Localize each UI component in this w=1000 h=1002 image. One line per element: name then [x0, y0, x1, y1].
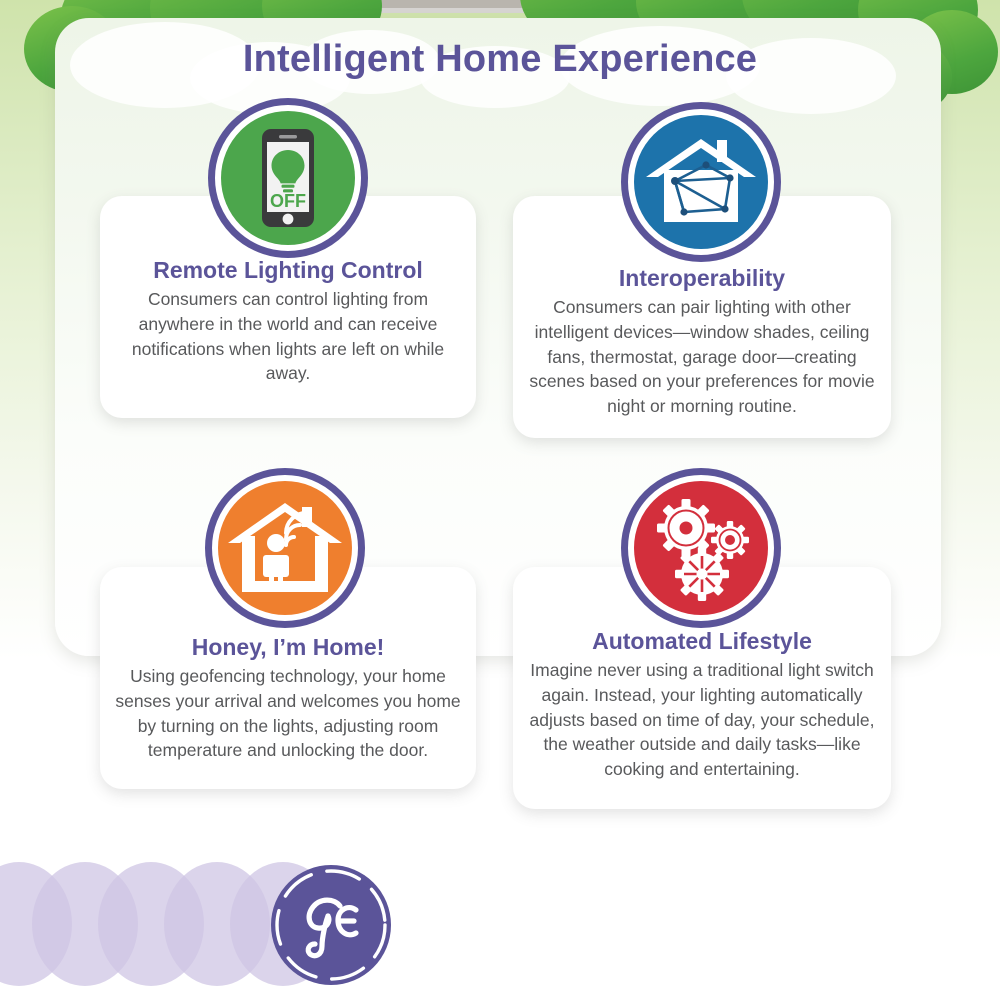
phone-off-icon: OFF	[208, 98, 368, 258]
geofence-person-house-icon	[205, 468, 365, 628]
ge-monogram-logo	[268, 862, 394, 988]
gears-glyph	[634, 481, 768, 615]
card-body: Imagine never using a traditional light …	[513, 658, 891, 781]
phone-off-label: OFF	[270, 191, 306, 211]
phone-off-glyph: OFF	[221, 111, 355, 245]
smart-home-network-glyph	[634, 115, 768, 249]
gears-icon	[621, 468, 781, 628]
card-body: Using geofencing technology, your home s…	[100, 664, 476, 763]
card-title: Remote Lighting Control	[100, 258, 476, 283]
smart-home-network-icon	[621, 102, 781, 262]
page-title: Intelligent Home Experience	[0, 38, 1000, 81]
card-title: Interoperability	[513, 266, 891, 291]
card-title: Automated Lifestyle	[513, 629, 891, 654]
card-body: Consumers can control lighting from anyw…	[100, 287, 476, 386]
card-title: Honey, I’m Home!	[100, 635, 476, 660]
geofence-person-house-glyph	[218, 481, 352, 615]
card-body: Consumers can pair lighting with other i…	[513, 295, 891, 418]
